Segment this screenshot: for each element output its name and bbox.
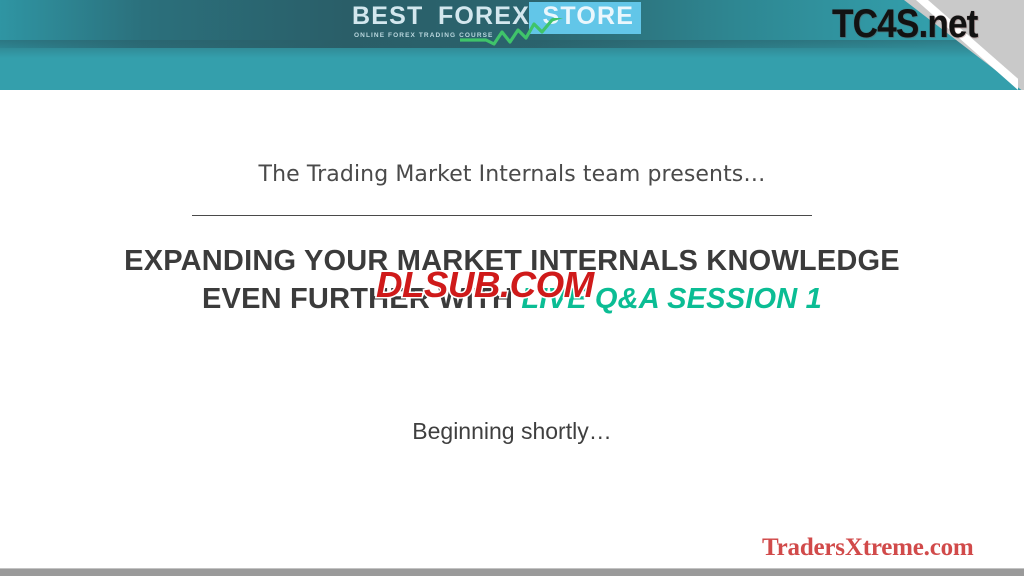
title-divider xyxy=(192,215,812,216)
best-forex-store-logo[interactable]: BEST FOREX STORE ONLINE FOREX TRADING CO… xyxy=(352,2,664,46)
tradersxtreme-watermark: TradersXtreme.com xyxy=(762,534,974,562)
dlsub-watermark: DLSUB.COM xyxy=(376,264,594,306)
slide-content: The Trading Market Internals team presen… xyxy=(0,90,1024,576)
rising-chart-line-icon xyxy=(460,18,590,46)
presents-line: The Trading Market Internals team presen… xyxy=(0,162,1024,187)
status-text: Beginning shortly… xyxy=(0,418,1024,445)
bottom-bar xyxy=(0,568,1024,576)
top-banner: BEST FOREX STORE ONLINE FOREX TRADING CO… xyxy=(0,0,1024,90)
presentation-slide: BEST FOREX STORE ONLINE FOREX TRADING CO… xyxy=(0,0,1024,576)
tc4s-watermark: TC4S.net xyxy=(832,2,978,47)
logo-word-best: BEST xyxy=(352,2,423,30)
